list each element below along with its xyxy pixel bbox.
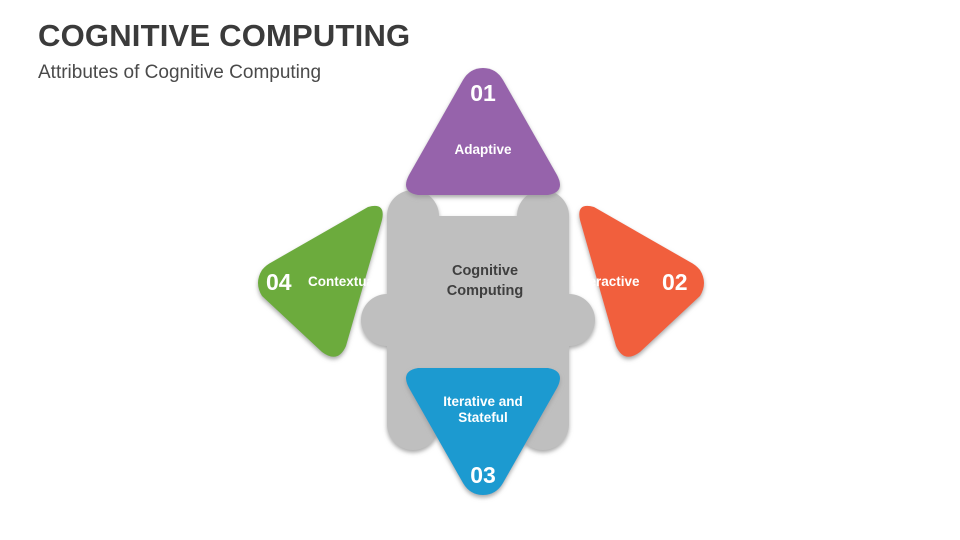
node-02-number: 02 [662, 269, 702, 295]
node-03-label-line2: Stateful [458, 410, 508, 425]
center-hub-label: Cognitive Computing [410, 262, 560, 301]
center-hub-label-line2: Computing [410, 282, 560, 302]
node-02-label: Interactive [572, 274, 662, 290]
node-04-number: 04 [266, 269, 306, 295]
node-04-label: Contextual [308, 274, 402, 290]
node-03-label: Iterative and Stateful [424, 394, 542, 425]
center-hub-label-line1: Cognitive [410, 262, 560, 282]
node-03-number: 03 [452, 462, 514, 488]
slide-canvas: COGNITIVE COMPUTING Attributes of Cognit… [0, 0, 960, 540]
node-01-number: 01 [450, 80, 516, 106]
radial-cycle-diagram: Cognitive Computing 01 Adaptive Interact… [0, 0, 960, 540]
node-03-label-line1: Iterative and [443, 394, 523, 409]
node-01-label: Adaptive [430, 142, 536, 158]
